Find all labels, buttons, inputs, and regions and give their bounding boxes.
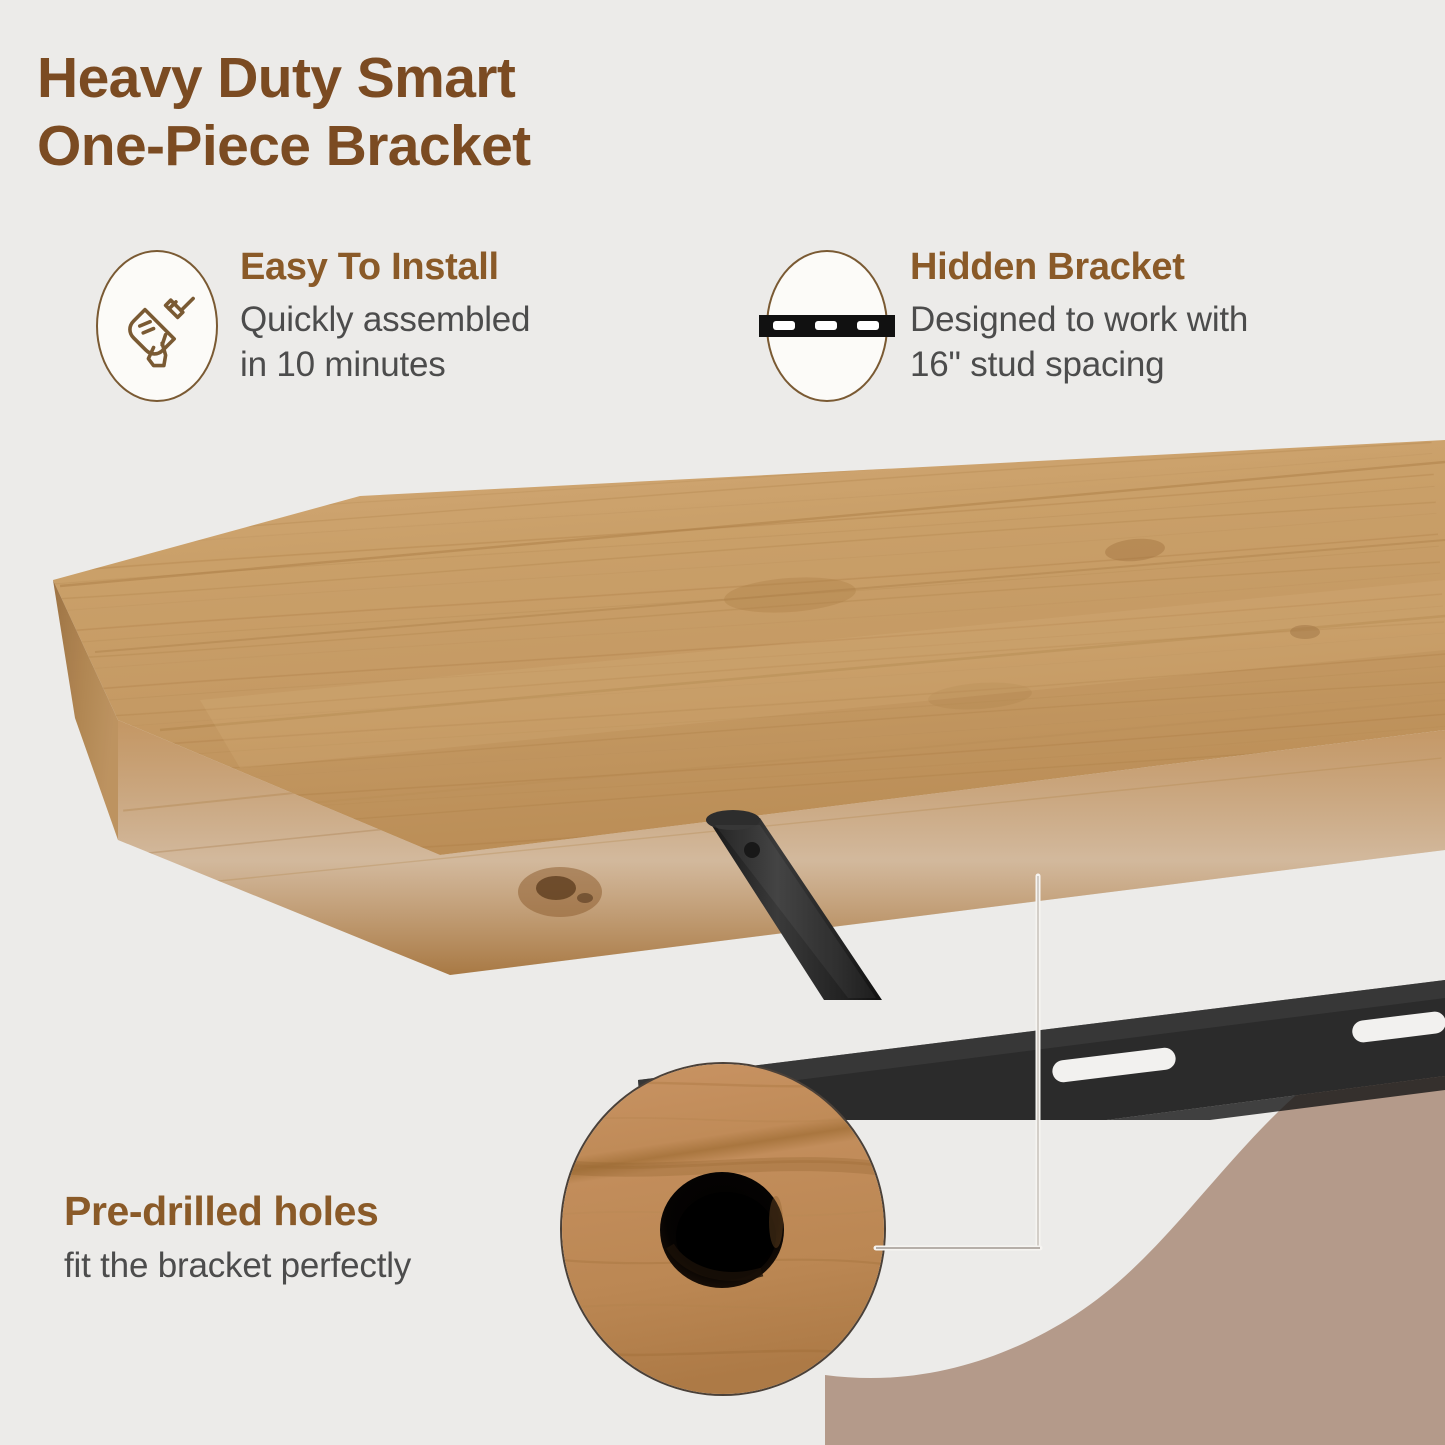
magnifier-predrilled-hole <box>560 1062 886 1396</box>
feature-subtitle: Quickly assembled in 10 minutes <box>240 297 530 388</box>
headline-line-2: One-Piece Bracket <box>37 112 937 180</box>
feature-easy-to-install: Easy To Install Quickly assembled in 10 … <box>96 246 530 402</box>
feature-hidden-bracket: Hidden Bracket Designed to work with 16"… <box>766 246 1248 402</box>
feature-title: Easy To Install <box>240 248 530 288</box>
feature-title: Hidden Bracket <box>910 248 1248 288</box>
caption-subtitle: fit the bracket perfectly <box>64 1245 544 1287</box>
product-infographic: Heavy Duty Smart One-Piece Bracket Easy … <box>0 0 1445 1445</box>
feature-text-block: Hidden Bracket Designed to work with 16"… <box>910 246 1248 388</box>
bracket-bar-icon <box>766 250 888 402</box>
predrilled-holes-caption: Pre-drilled holes fit the bracket perfec… <box>64 1190 544 1287</box>
feature-text-block: Easy To Install Quickly assembled in 10 … <box>240 246 530 388</box>
headline-line-1: Heavy Duty Smart <box>37 46 515 110</box>
product-photo-shelf <box>0 400 1445 1120</box>
feature-subtitle: Designed to work with 16" stud spacing <box>910 297 1248 388</box>
caption-title: Pre-drilled holes <box>64 1190 544 1233</box>
drill-icon <box>96 250 218 402</box>
page-title: Heavy Duty Smart One-Piece Bracket <box>37 44 937 181</box>
